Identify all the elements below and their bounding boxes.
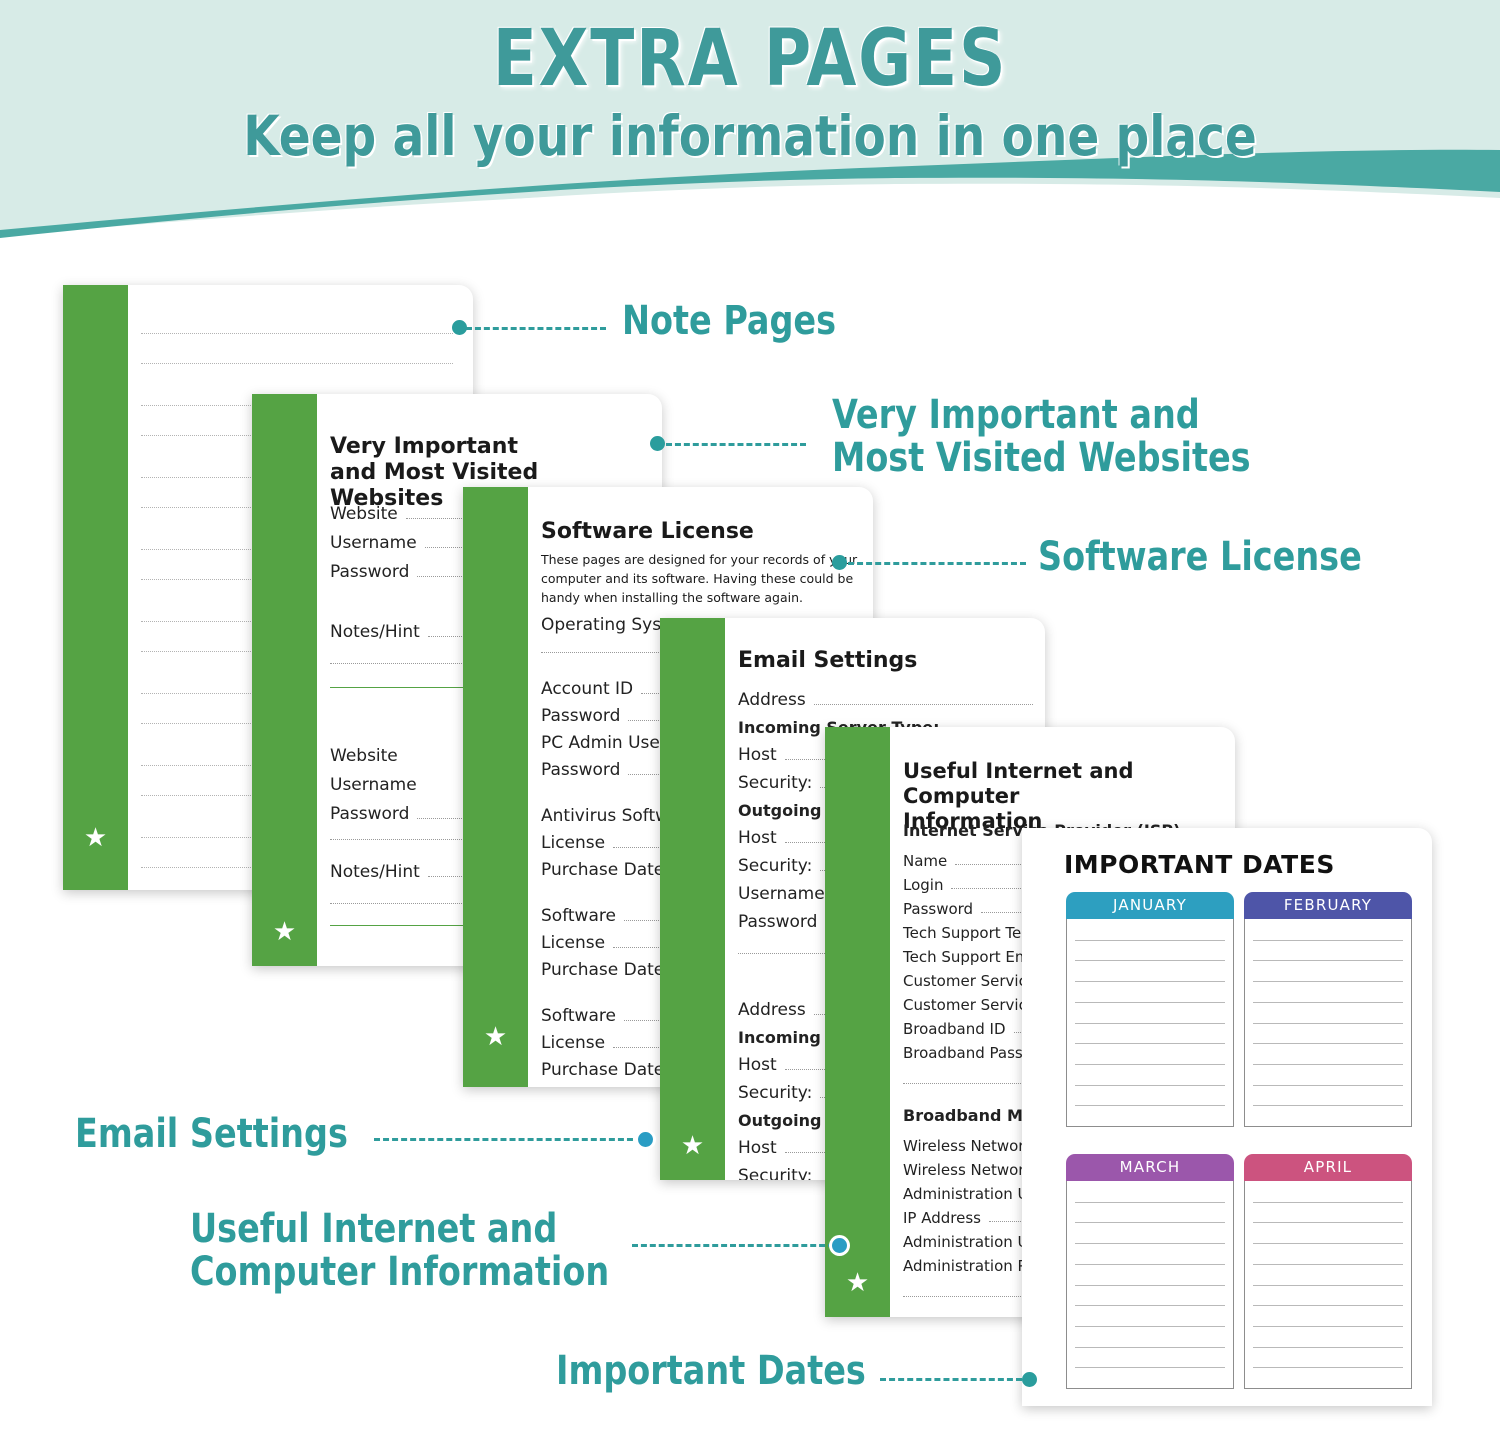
month-write-line[interactable]	[1253, 1105, 1403, 1106]
field-dotted-line[interactable]	[814, 704, 1033, 705]
field-label: Host	[738, 828, 777, 848]
month-write-line[interactable]	[1253, 981, 1403, 982]
field-label: Security:	[738, 1083, 812, 1103]
field-label: Host	[738, 1138, 777, 1158]
month-write-line[interactable]	[1253, 1043, 1403, 1044]
month-write-line[interactable]	[1253, 1064, 1403, 1065]
field-label: Password	[541, 706, 620, 726]
note-line[interactable]	[141, 333, 453, 334]
month-write-line[interactable]	[1253, 1305, 1403, 1306]
callout-software-license: Software License	[1038, 536, 1362, 579]
field-label: Username	[330, 533, 417, 553]
month-write-line[interactable]	[1075, 1264, 1225, 1265]
callout-very-important-websites: Very Important and Most Visited Websites	[832, 394, 1251, 480]
field-label: Security:	[738, 773, 812, 793]
month-write-line[interactable]	[1075, 1202, 1225, 1203]
field-label: Website	[330, 746, 398, 766]
note-line[interactable]	[141, 363, 453, 364]
month-write-line[interactable]	[1253, 1347, 1403, 1348]
month-write-line[interactable]	[1075, 1064, 1225, 1065]
callout-note-pages: Note Pages	[622, 300, 836, 343]
field-label: Purchase Date	[541, 960, 664, 980]
leader-line	[632, 1244, 834, 1247]
field-label: Username	[330, 775, 417, 795]
field-label: Host	[738, 745, 777, 765]
card-spine-green: ★	[463, 487, 528, 1087]
star-icon: ★	[846, 1269, 869, 1295]
month-write-line[interactable]	[1075, 1043, 1225, 1044]
field-label: Password	[738, 912, 817, 932]
field-label: Website	[330, 504, 398, 524]
field-label: Broadband ID	[903, 1020, 1006, 1038]
field-label: Address	[738, 690, 806, 710]
important-dates-title: IMPORTANT DATES	[1064, 850, 1335, 879]
field-label: Notes/Hint	[330, 862, 420, 882]
field-label: Password	[330, 804, 409, 824]
callout-email-settings: Email Settings	[75, 1113, 348, 1156]
leader-line	[880, 1378, 1022, 1381]
month-write-line[interactable]	[1253, 1085, 1403, 1086]
field-label: Software	[541, 1006, 616, 1026]
month-header: MARCH	[1066, 1154, 1234, 1181]
month-write-line[interactable]	[1075, 1002, 1225, 1003]
month-header: APRIL	[1244, 1154, 1412, 1181]
month-write-line[interactable]	[1075, 1085, 1225, 1086]
month-box-january[interactable]: JANUARY	[1066, 892, 1234, 1127]
month-write-line[interactable]	[1253, 1023, 1403, 1024]
leader-line	[466, 327, 606, 330]
month-header: JANUARY	[1066, 892, 1234, 919]
field-label: Tech Support Tel.	[903, 924, 1030, 942]
month-write-line[interactable]	[1253, 940, 1403, 941]
month-write-line[interactable]	[1075, 960, 1225, 961]
leader-dot	[452, 320, 467, 335]
star-icon: ★	[273, 918, 296, 944]
field-label: Login	[903, 876, 943, 894]
month-write-line[interactable]	[1075, 981, 1225, 982]
field-label: License	[541, 933, 605, 953]
leader-dot	[1022, 1372, 1037, 1387]
month-write-line[interactable]	[1253, 1222, 1403, 1223]
card-spine-green: ★	[63, 285, 128, 890]
field-label: Password	[903, 900, 973, 918]
field-label: Host	[738, 1055, 777, 1075]
month-write-line[interactable]	[1075, 1285, 1225, 1286]
leader-line	[374, 1138, 642, 1141]
leader-line	[666, 443, 806, 446]
month-lines[interactable]	[1244, 1181, 1412, 1389]
card-spine-green: ★	[825, 727, 890, 1317]
field-label: Password	[330, 562, 409, 582]
month-write-line[interactable]	[1075, 940, 1225, 941]
field-label: Password	[541, 760, 620, 780]
card-spine-green: ★	[660, 618, 725, 1180]
month-write-line[interactable]	[1253, 1326, 1403, 1327]
field-label: Name	[903, 852, 947, 870]
field-label: IP Address	[903, 1209, 981, 1227]
leader-dot	[638, 1132, 653, 1147]
field-row[interactable]: Address	[738, 690, 1033, 710]
card-important-dates[interactable]: IMPORTANT DATES JANUARYFEBRUARYMARCHAPRI…	[1022, 828, 1432, 1406]
month-write-line[interactable]	[1075, 1105, 1225, 1106]
month-write-line[interactable]	[1253, 1367, 1403, 1368]
month-write-line[interactable]	[1253, 1002, 1403, 1003]
month-write-line[interactable]	[1253, 960, 1403, 961]
month-lines[interactable]	[1244, 919, 1412, 1127]
header-banner: EXTRA PAGES Keep all your information in…	[0, 0, 1500, 262]
month-write-line[interactable]	[1075, 1326, 1225, 1327]
field-label: Security:	[738, 856, 812, 876]
month-write-line[interactable]	[1075, 1243, 1225, 1244]
page-subtitle: Keep all your information in one place	[38, 104, 1463, 168]
month-write-line[interactable]	[1075, 1367, 1225, 1368]
field-label: Notes/Hint	[330, 622, 420, 642]
field-label: License	[541, 833, 605, 853]
leader-dot	[832, 555, 847, 570]
month-write-line[interactable]	[1253, 1243, 1403, 1244]
field-label: Account ID	[541, 679, 633, 699]
month-write-line[interactable]	[1253, 1202, 1403, 1203]
star-icon: ★	[681, 1132, 704, 1158]
month-write-line[interactable]	[1253, 1285, 1403, 1286]
month-write-line[interactable]	[1075, 1347, 1225, 1348]
card-intro-text: These pages are designed for your record…	[541, 551, 859, 607]
field-label: License	[541, 1033, 605, 1053]
month-write-line[interactable]	[1075, 1305, 1225, 1306]
card-spine-green: ★	[252, 394, 317, 966]
month-box-march[interactable]: MARCH	[1066, 1154, 1234, 1389]
month-header: FEBRUARY	[1244, 892, 1412, 919]
month-box-april[interactable]: APRIL	[1244, 1154, 1412, 1389]
leader-line	[848, 562, 1026, 565]
star-icon: ★	[84, 824, 107, 850]
month-write-line[interactable]	[1253, 1264, 1403, 1265]
leader-dot	[650, 436, 665, 451]
callout-important-dates: Important Dates	[556, 1350, 866, 1393]
card-title: Email Settings	[738, 648, 917, 674]
field-label: Address	[738, 1000, 806, 1020]
field-label: Purchase Date	[541, 1060, 664, 1080]
page-title: EXTRA PAGES	[60, 14, 1440, 104]
field-label: Security:	[738, 1166, 812, 1180]
month-write-line[interactable]	[1075, 1023, 1225, 1024]
card-title: Software License	[541, 519, 754, 545]
star-icon: ★	[484, 1023, 507, 1049]
field-label: Username	[738, 884, 825, 904]
leader-dot	[832, 1238, 847, 1253]
month-box-february[interactable]: FEBRUARY	[1244, 892, 1412, 1127]
month-lines[interactable]	[1066, 919, 1234, 1127]
month-write-line[interactable]	[1075, 1222, 1225, 1223]
field-label: Software	[541, 906, 616, 926]
field-label: Purchase Date	[541, 860, 664, 880]
month-lines[interactable]	[1066, 1181, 1234, 1389]
callout-useful-internet: Useful Internet and Computer Information	[190, 1208, 609, 1294]
